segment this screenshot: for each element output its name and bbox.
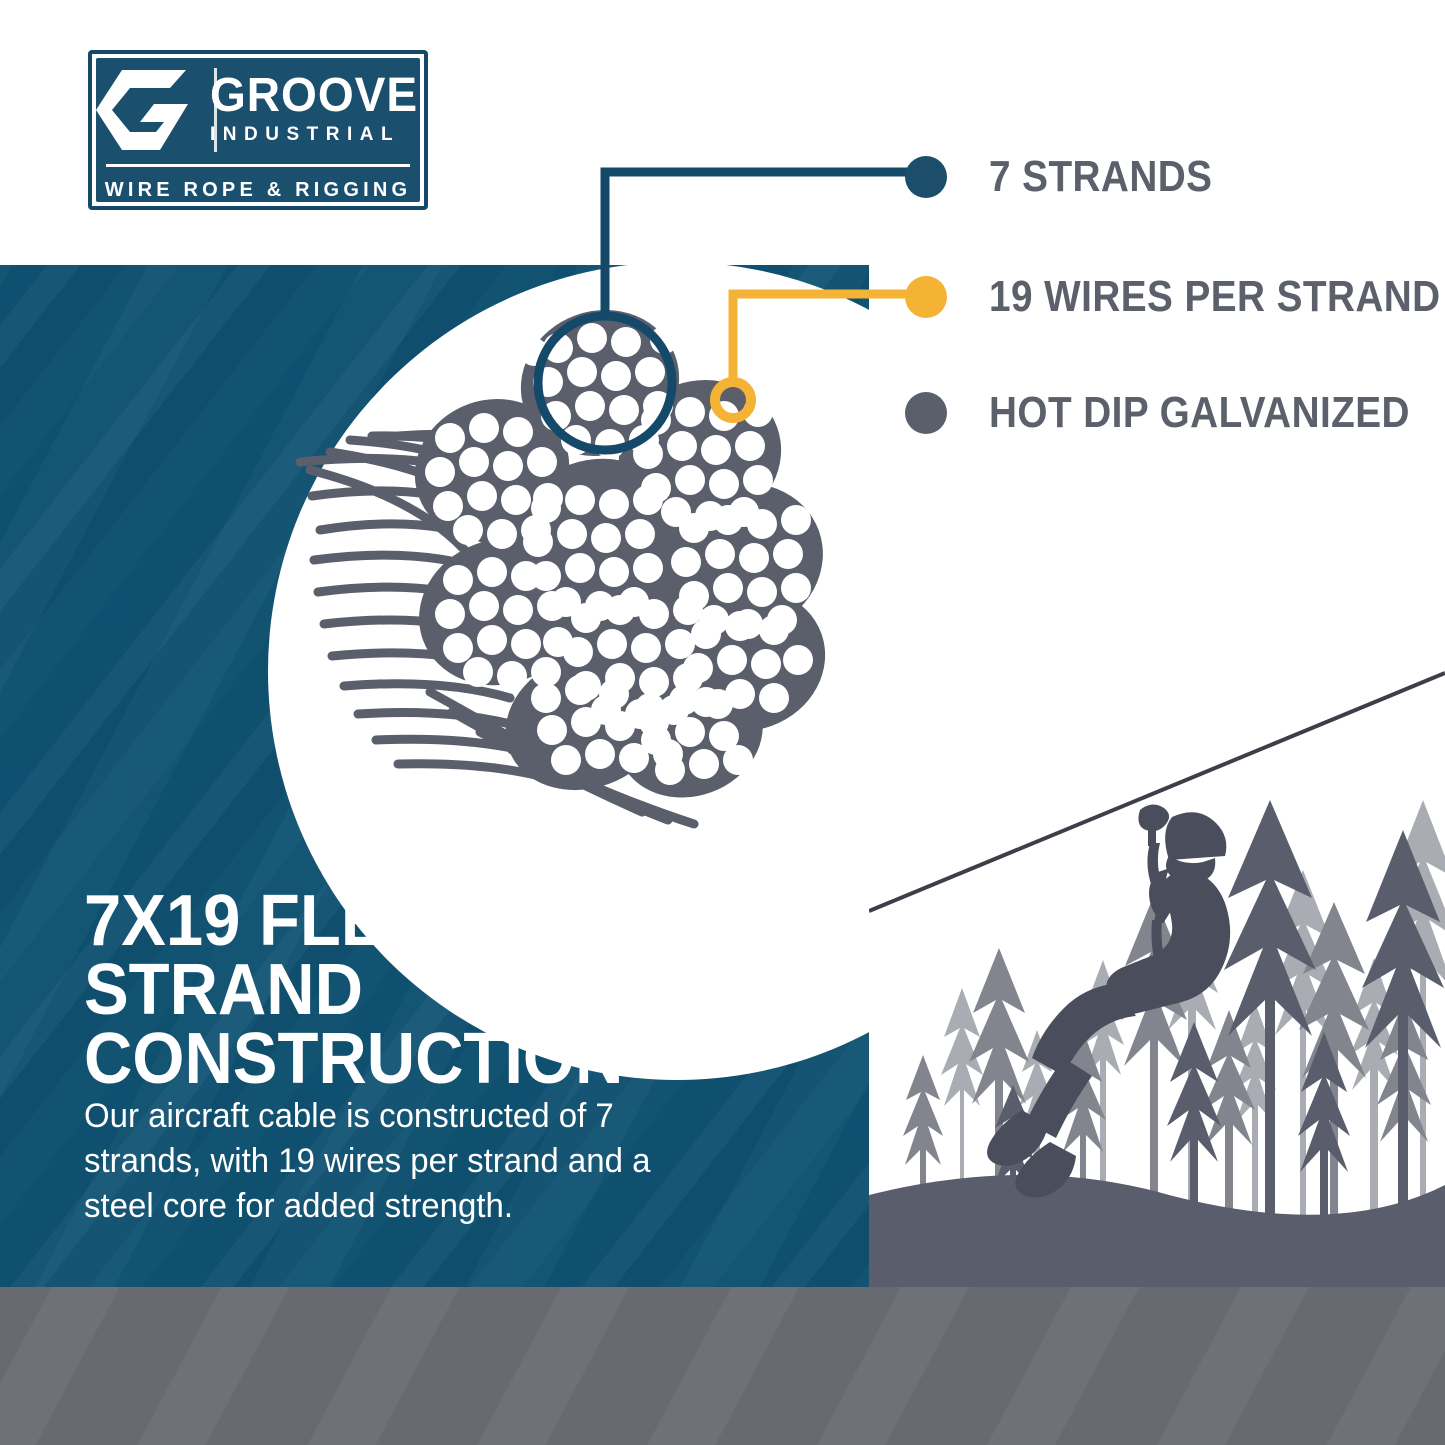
callout-label-galvanized: HOT DIP GALVANIZED [989, 388, 1410, 438]
zipline-forest-scene [869, 660, 1445, 1290]
callout-galvanized: HOT DIP GALVANIZED [905, 388, 1445, 438]
callout-wires: 19 WIRES PER STRAND [905, 272, 1445, 322]
title-line-2: STRAND CONSTRUCTION [84, 956, 791, 1094]
callout-strands: 7 STRANDS [905, 152, 1243, 202]
logo-subtitle: INDUSTRIAL [210, 124, 427, 146]
logo-text-block: GROOVE INDUSTRIAL [192, 74, 427, 145]
logo-top-row: GROOVE INDUSTRIAL [96, 58, 420, 162]
pine-trees-mid [903, 895, 1431, 1290]
callout-dot-galvanized [905, 392, 947, 434]
groove-g-icon [96, 58, 192, 162]
infographic-canvas: GROOVE INDUSTRIAL WIRE ROPE & RIGGING 7 … [0, 0, 1445, 1445]
title-line-1: 7X19 FLEXIBLE [84, 887, 791, 956]
callout-dot-strands [905, 156, 947, 198]
callout-label-wires: 19 WIRES PER STRAND [989, 272, 1441, 322]
feature-description: Our aircraft cable is constructed of 7 s… [84, 1094, 724, 1230]
logo-fill: GROOVE INDUSTRIAL WIRE ROPE & RIGGING [96, 58, 420, 202]
callout-label-strands: 7 STRANDS [989, 152, 1212, 202]
footer-bar [0, 1287, 1445, 1445]
page-title: 7X19 FLEXIBLE STRAND CONSTRUCTION [84, 887, 791, 1094]
logo-tagline: WIRE ROPE & RIGGING [105, 179, 411, 202]
logo-name: GROOVE [210, 74, 418, 118]
zipline-rider-silhouette [987, 804, 1230, 1197]
brand-logo[interactable]: GROOVE INDUSTRIAL WIRE ROPE & RIGGING [88, 50, 428, 210]
pine-trees-front [869, 800, 1445, 1290]
callout-dot-wires [905, 276, 947, 318]
logo-rule [106, 164, 410, 167]
pine-trees-back [941, 800, 1445, 1290]
logo-tagline-row: WIRE ROPE & RIGGING [96, 170, 420, 210]
zipline-cable [869, 673, 1445, 911]
footer-wave-texture [0, 1287, 1445, 1445]
